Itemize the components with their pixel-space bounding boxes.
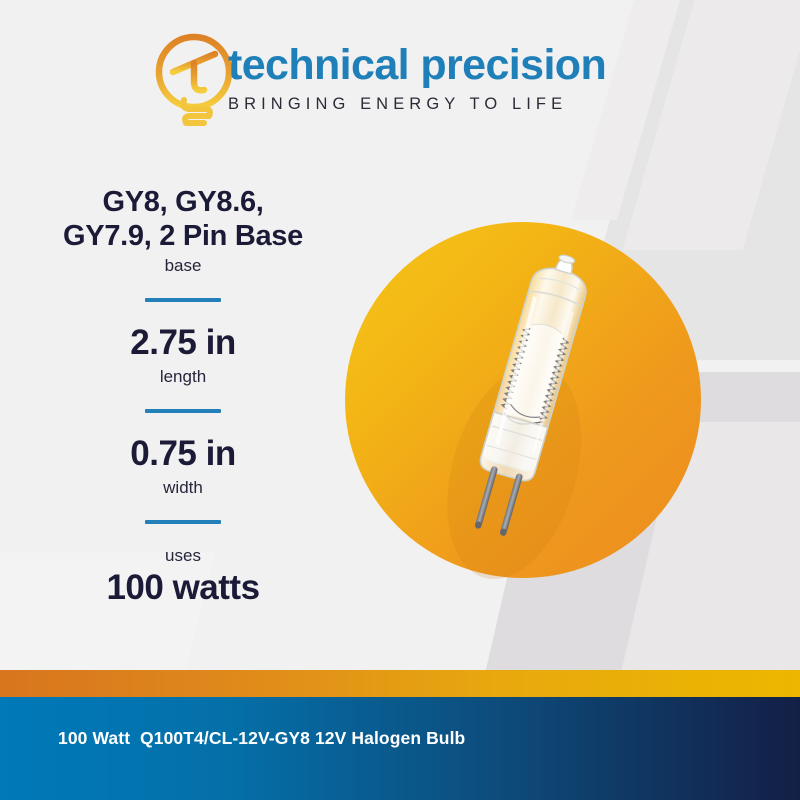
brand-tagline: BRINGING ENERGY TO LIFE [228,96,658,113]
spec-divider-3 [145,520,221,524]
spec-item-base: GY8, GY8.6, GY7.9, 2 Pin Base base [18,186,348,277]
brand-name: technical precision [228,44,658,87]
brand-text-block: technical precision BRINGING ENERGY TO L… [228,44,658,113]
footer-accent-stripe [0,670,800,697]
footer-product-title: 100 Watt Q100T4/CL-12V-GY8 12V Halogen B… [58,728,465,749]
brand-logo: technical precision BRINGING ENERGY TO L… [148,28,658,138]
spec-item-length: 2.75 in length [18,323,348,388]
spec-item-width: 0.75 in width [18,434,348,499]
spec-list: GY8, GY8.6, GY7.9, 2 Pin Base base 2.75 … [18,186,348,608]
spec-item-uses: uses 100 watts [18,545,348,609]
spec-length-value: 2.75 in [18,323,348,364]
spec-base-label: base [18,255,348,277]
halogen-bulb-image [345,222,701,602]
spec-base-value-line2: GY7.9, 2 Pin Base [18,220,348,254]
spec-base-value: GY8, GY8.6, GY7.9, 2 Pin Base [18,186,348,253]
spec-length-label: length [18,366,348,388]
spec-width-label: width [18,477,348,499]
spec-uses-value: 100 watts [18,568,348,609]
spec-divider-2 [145,409,221,413]
spec-divider-1 [145,298,221,302]
product-infographic: technical precision BRINGING ENERGY TO L… [0,0,800,800]
spec-width-value: 0.75 in [18,434,348,475]
lightbulb-t-icon [148,30,240,134]
spec-base-value-line1: GY8, GY8.6, [18,186,348,220]
spec-uses-label: uses [18,545,348,567]
